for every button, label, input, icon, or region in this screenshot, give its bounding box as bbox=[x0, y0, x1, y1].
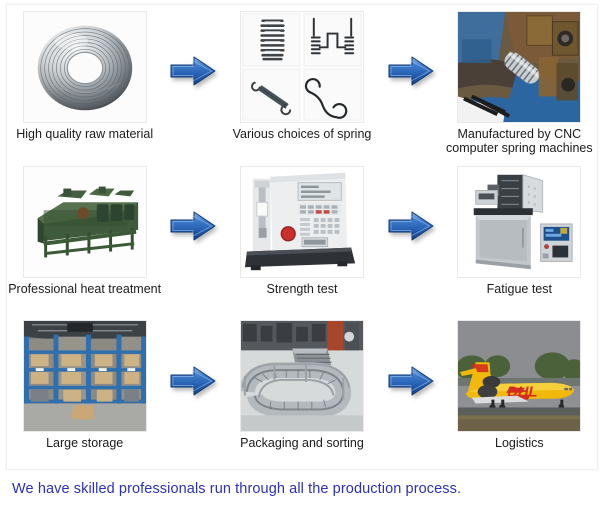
arrow-right-icon bbox=[388, 364, 434, 398]
cnc-spring-machine-photo bbox=[457, 11, 581, 123]
step-logistics[interactable]: DHL bbox=[442, 314, 597, 469]
footer-note: We have skilled professionals run throug… bbox=[12, 481, 461, 497]
step-spring-choices[interactable]: Various choices of spring bbox=[224, 5, 379, 160]
spring-types-collage-photo bbox=[240, 11, 364, 123]
heat-treatment-furnace-photo bbox=[23, 166, 147, 278]
arrow-4 bbox=[380, 160, 442, 315]
dhl-cargo-plane-photo: DHL bbox=[457, 320, 581, 432]
step-strength-test[interactable]: Strength test bbox=[224, 160, 379, 315]
step-large-storage[interactable]: Large storage bbox=[7, 314, 162, 469]
arrow-right-icon bbox=[170, 364, 216, 398]
arrow-3 bbox=[162, 160, 224, 315]
steel-wire-coil-photo bbox=[23, 11, 147, 123]
step-caption: Professional heat treatment bbox=[8, 282, 161, 296]
arrow-5 bbox=[162, 314, 224, 469]
step-caption: Packaging and sorting bbox=[240, 436, 364, 450]
arrow-right-icon bbox=[170, 54, 216, 88]
step-caption: High quality raw material bbox=[16, 127, 153, 141]
step-caption: Large storage bbox=[46, 436, 123, 450]
step-caption: Strength test bbox=[267, 282, 338, 296]
step-caption: Various choices of spring bbox=[233, 127, 372, 141]
process-grid: High quality raw material bbox=[7, 5, 597, 469]
arrow-right-icon bbox=[388, 209, 434, 243]
fatigue-testing-machine-photo bbox=[457, 166, 581, 278]
strength-testing-machine-photo bbox=[240, 166, 364, 278]
conveyor-sorting-line-photo bbox=[240, 320, 364, 432]
step-raw-material[interactable]: High quality raw material bbox=[7, 5, 162, 160]
process-flow-panel: High quality raw material bbox=[6, 4, 598, 470]
production-process-infographic: High quality raw material bbox=[0, 0, 611, 517]
step-fatigue-test[interactable]: Fatigue test bbox=[442, 160, 597, 315]
step-cnc-manufacturing[interactable]: Manufactured by CNCcomputer spring machi… bbox=[442, 5, 597, 160]
arrow-2 bbox=[380, 5, 442, 160]
arrow-6 bbox=[380, 314, 442, 469]
arrow-1 bbox=[162, 5, 224, 160]
arrow-right-icon bbox=[170, 209, 216, 243]
warehouse-racking-photo bbox=[23, 320, 147, 432]
step-caption: Manufactured by CNCcomputer spring machi… bbox=[446, 127, 593, 155]
step-caption: Logistics bbox=[495, 436, 544, 450]
step-caption: Fatigue test bbox=[487, 282, 552, 296]
step-heat-treatment[interactable]: Professional heat treatment bbox=[7, 160, 162, 315]
arrow-right-icon bbox=[388, 54, 434, 88]
step-packaging-sorting[interactable]: Packaging and sorting bbox=[224, 314, 379, 469]
